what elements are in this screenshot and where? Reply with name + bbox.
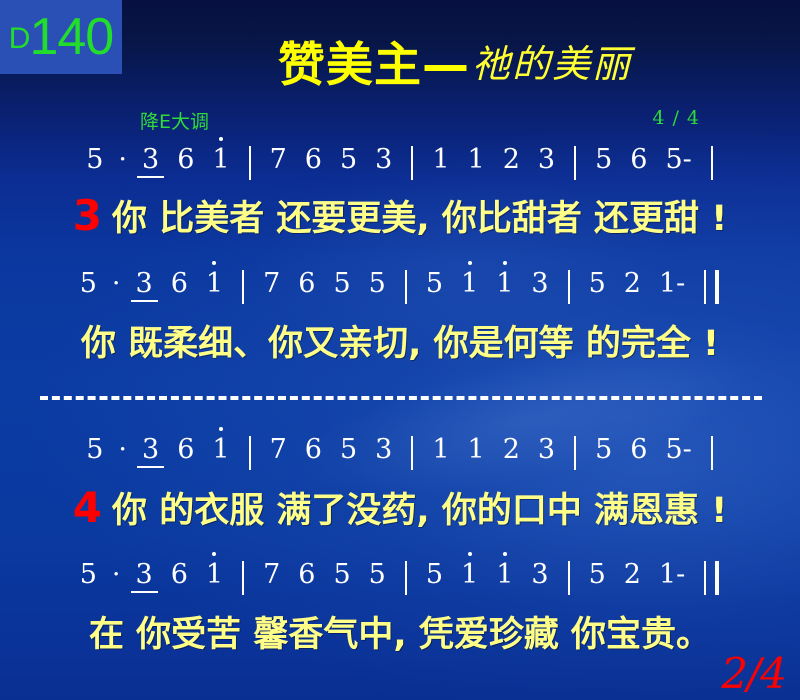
measure: 565- xyxy=(586,146,701,173)
measure: 7653 xyxy=(261,146,402,173)
note-numeral: 1 xyxy=(197,561,232,588)
note-numeral: 5 xyxy=(324,270,359,297)
note-numeral: 5 xyxy=(324,561,359,588)
measure: 1123 xyxy=(423,146,564,173)
title-main-text: 赞美主— xyxy=(278,38,470,93)
lyric-line: 你 既柔细、你又亲切, 你是何等 的完全 ! xyxy=(0,315,800,365)
barline xyxy=(574,146,576,180)
lyric-text: 你 的衣服 满了没药, 你的口中 满恩惠 ! xyxy=(112,482,727,533)
note-numeral: 5 xyxy=(580,270,615,297)
barline xyxy=(242,270,244,304)
note-numeral: 1- xyxy=(650,270,694,297)
note-numeral: 3 xyxy=(127,561,162,588)
note-numeral: 7 xyxy=(254,270,289,297)
measure: 5·361 xyxy=(71,561,232,588)
note-numeral: 3 xyxy=(133,146,168,173)
lyric-line: 在 你受苦 馨香气中, 凭爱珍藏 你宝贵。 xyxy=(0,606,800,656)
key-signature-label: 降E大调 xyxy=(140,107,209,134)
note-numeral: 5 xyxy=(417,270,452,297)
note-numeral: 1 xyxy=(452,561,487,588)
note-numeral: 3 xyxy=(522,561,557,588)
barline xyxy=(405,270,407,304)
measure: 521- xyxy=(580,561,695,588)
notation-line: 5·36176555113521- xyxy=(0,554,800,594)
barline xyxy=(242,561,244,595)
note-numeral: 3 xyxy=(529,146,564,173)
note-numeral: 1 xyxy=(487,561,522,588)
barline xyxy=(711,146,713,180)
notation-line: 5·36176555113521- xyxy=(0,263,800,303)
note-numeral: 5 xyxy=(331,436,366,463)
note-numeral: 3 xyxy=(127,270,162,297)
note-numeral: 5 xyxy=(586,436,621,463)
note-numeral: 5 xyxy=(77,436,112,463)
page-indicator: 2/4 xyxy=(721,649,786,698)
barline xyxy=(411,146,413,180)
note-numeral: 3 xyxy=(133,436,168,463)
augmentation-dot: · xyxy=(112,436,133,463)
time-signature-label: 4 / 4 xyxy=(652,107,700,129)
note-numeral: 5 xyxy=(417,561,452,588)
barline xyxy=(411,436,413,470)
measure: 5·361 xyxy=(77,146,238,173)
verse-number: 4 xyxy=(73,483,102,532)
note-numeral: 3 xyxy=(366,436,401,463)
augmentation-dot: · xyxy=(112,146,133,173)
final-barline xyxy=(704,561,719,595)
final-barline xyxy=(704,270,719,304)
note-numeral: 6 xyxy=(162,270,197,297)
verse-number: 3 xyxy=(73,191,102,240)
page-title: 赞美主—祂的美丽 xyxy=(135,26,775,95)
note-numeral: 1 xyxy=(423,146,458,173)
note-numeral: 1 xyxy=(197,270,232,297)
note-numeral: 6 xyxy=(296,146,331,173)
song-number-value: 140 xyxy=(29,11,113,63)
section-divider xyxy=(40,396,762,400)
note-numeral: 1 xyxy=(452,270,487,297)
augmentation-dot: · xyxy=(106,561,127,588)
note-numeral: 1 xyxy=(423,436,458,463)
note-numeral: 5 xyxy=(580,561,615,588)
measure: 5113 xyxy=(417,270,558,297)
barline xyxy=(711,436,713,470)
note-numeral: 5 xyxy=(71,270,106,297)
augmentation-dot: · xyxy=(106,270,127,297)
note-numeral: 5 xyxy=(71,561,106,588)
song-number-prefix: D xyxy=(9,24,30,54)
note-numeral: 1 xyxy=(203,436,238,463)
note-numeral: 5- xyxy=(656,146,700,173)
measure: 7655 xyxy=(254,561,395,588)
note-numeral: 5 xyxy=(586,146,621,173)
note-numeral: 1 xyxy=(203,146,238,173)
barline xyxy=(568,270,570,304)
note-numeral: 6 xyxy=(296,436,331,463)
lyric-text: 你 比美者 还要更美, 你比甜者 还更甜 ! xyxy=(112,190,727,241)
note-numeral: 1 xyxy=(487,270,522,297)
note-numeral: 6 xyxy=(168,146,203,173)
note-numeral: 5 xyxy=(360,561,395,588)
note-numeral: 6 xyxy=(168,436,203,463)
measure: 7655 xyxy=(254,270,395,297)
measure: 5·361 xyxy=(77,436,238,463)
note-numeral: 5- xyxy=(656,436,700,463)
note-numeral: 1 xyxy=(459,146,494,173)
lyric-line: 4你 的衣服 满了没药, 你的口中 满恩惠 ! xyxy=(0,482,800,532)
note-numeral: 6 xyxy=(162,561,197,588)
lyric-line: 3你 比美者 还要更美, 你比甜者 还更甜 ! xyxy=(0,190,800,240)
song-slide: D140 赞美主—祂的美丽 降E大调 4 / 4 5·3617653112356… xyxy=(0,0,800,700)
note-numeral: 2 xyxy=(615,270,650,297)
note-numeral: 1 xyxy=(459,436,494,463)
note-numeral: 2 xyxy=(494,436,529,463)
notation-line: 5·36176531123565- xyxy=(0,139,800,179)
barline xyxy=(405,561,407,595)
note-numeral: 3 xyxy=(366,146,401,173)
note-numeral: 7 xyxy=(254,561,289,588)
note-numeral: 5 xyxy=(77,146,112,173)
barline xyxy=(249,146,251,180)
note-numeral: 1- xyxy=(650,561,694,588)
note-numeral: 5 xyxy=(331,146,366,173)
song-number-badge: D140 xyxy=(0,0,122,74)
measure: 1123 xyxy=(423,436,564,463)
note-numeral: 6 xyxy=(289,561,324,588)
note-numeral: 6 xyxy=(621,146,656,173)
note-numeral: 6 xyxy=(621,436,656,463)
note-numeral: 2 xyxy=(494,146,529,173)
note-numeral: 3 xyxy=(522,270,557,297)
note-numeral: 7 xyxy=(261,146,296,173)
measure: 5·361 xyxy=(71,270,232,297)
measure: 7653 xyxy=(261,436,402,463)
note-numeral: 5 xyxy=(360,270,395,297)
barline xyxy=(249,436,251,470)
title-subtitle-text: 祂的美丽 xyxy=(472,42,632,86)
lyric-text: 你 既柔细、你又亲切, 你是何等 的完全 ! xyxy=(81,315,719,366)
note-numeral: 3 xyxy=(529,436,564,463)
note-numeral: 2 xyxy=(615,561,650,588)
note-numeral: 6 xyxy=(289,270,324,297)
note-numeral: 7 xyxy=(261,436,296,463)
barline xyxy=(568,561,570,595)
notation-line: 5·36176531123565- xyxy=(0,429,800,469)
measure: 5113 xyxy=(417,561,558,588)
barline xyxy=(574,436,576,470)
measure: 565- xyxy=(586,436,701,463)
music-meta-row: 降E大调 4 / 4 xyxy=(140,107,700,133)
measure: 521- xyxy=(580,270,695,297)
lyric-text: 在 你受苦 馨香气中, 凭爱珍藏 你宝贵。 xyxy=(89,606,711,657)
